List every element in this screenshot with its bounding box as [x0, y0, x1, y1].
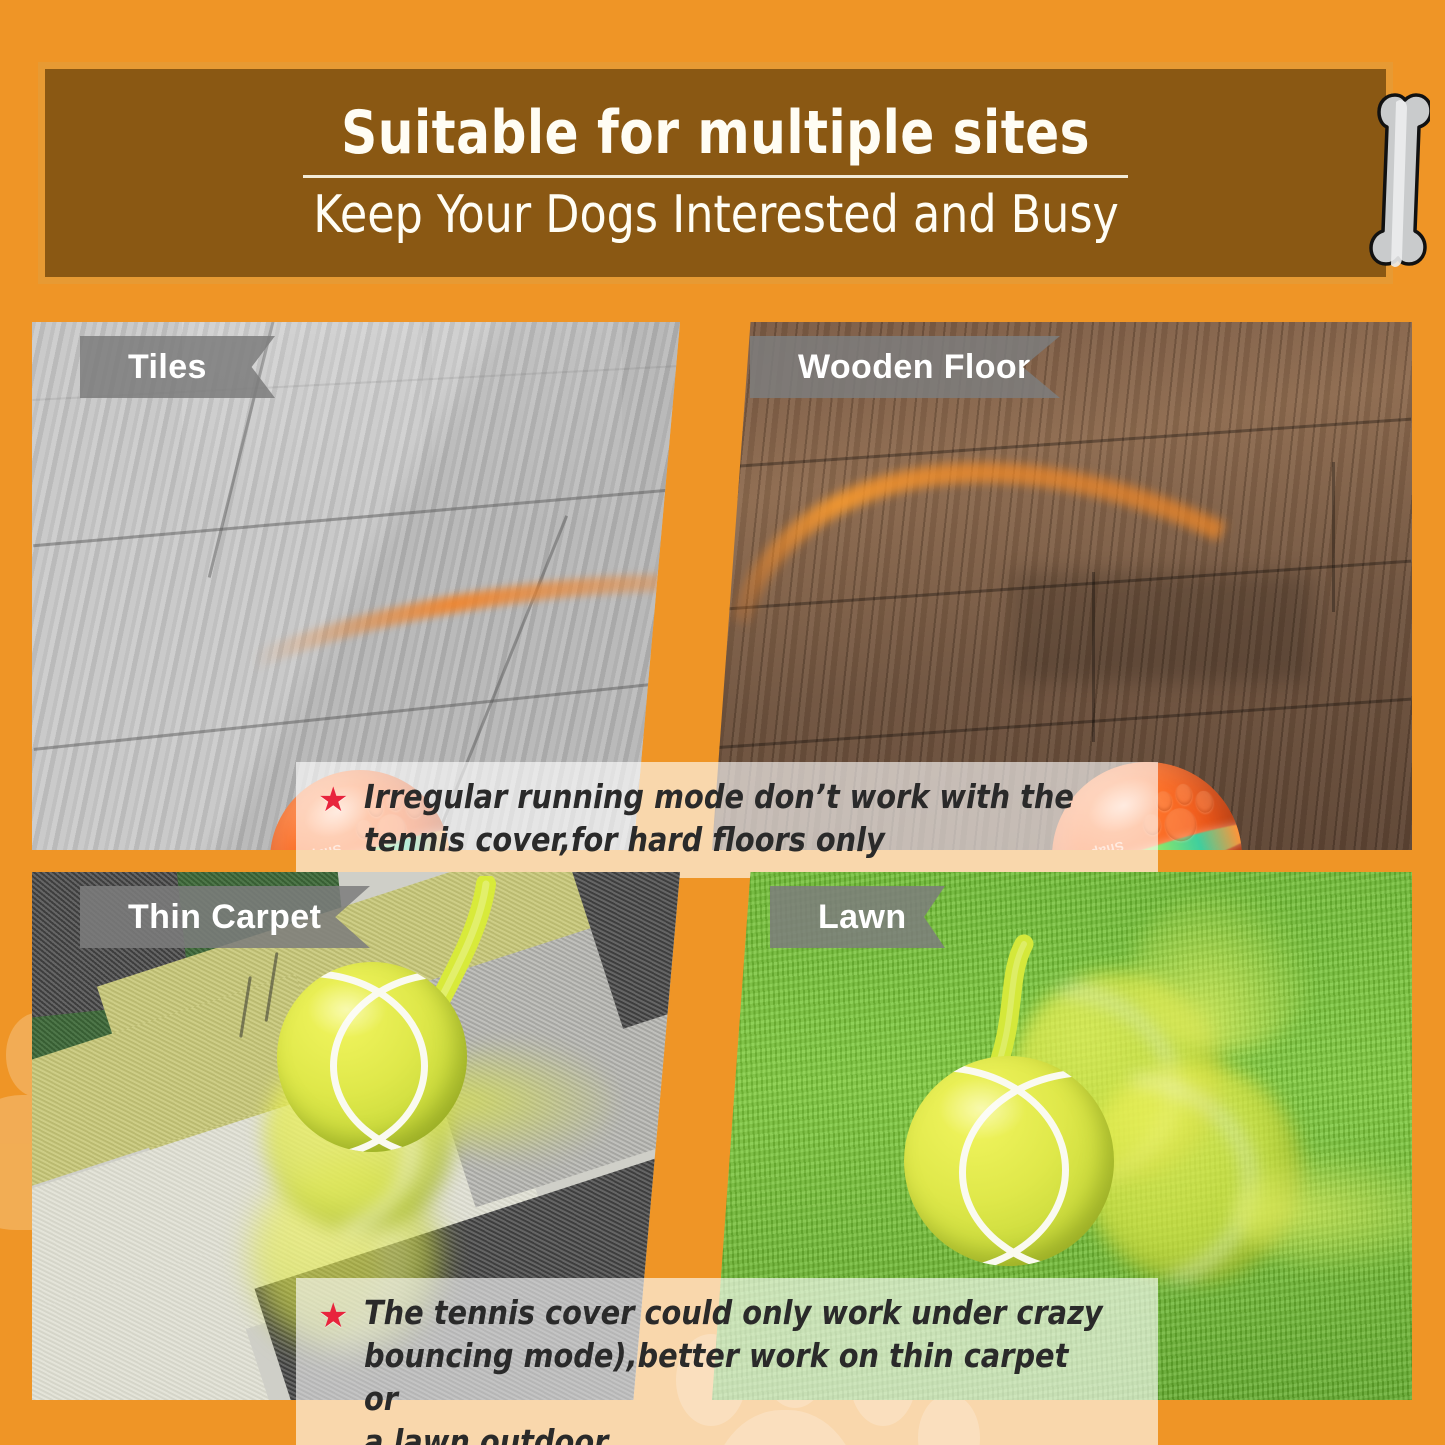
label-thin-carpet-text: Thin Carpet	[128, 898, 321, 937]
label-lawn: Lawn	[770, 886, 945, 948]
star-icon: ★	[318, 1299, 348, 1333]
label-thin-carpet: Thin Carpet	[80, 886, 370, 948]
caption-hard-floor-line2: tennis cover,for hard floors only	[364, 819, 1074, 862]
star-icon: ★	[318, 783, 348, 817]
caption-hard-floor-line1: Irregular running mode don’t work with t…	[364, 776, 1074, 819]
label-wooden-floor: Wooden Floor	[750, 336, 1060, 398]
caption-hard-floor: ★ Irregular running mode don’t work with…	[296, 762, 1158, 878]
product-infographic: Suitable for multiple sites Keep Your Do…	[0, 0, 1445, 1445]
label-tiles: Tiles	[80, 336, 275, 398]
bone-icon	[1360, 88, 1430, 278]
header-banner: Suitable for multiple sites Keep Your Do…	[38, 62, 1393, 284]
caption-tennis-cover-line1: The tennis cover could only work under c…	[364, 1292, 1108, 1335]
label-wooden-floor-text: Wooden Floor	[798, 348, 1031, 387]
tennis-tail-blur	[1132, 892, 1312, 1052]
caption-tennis-cover-line2: bouncing mode),better work on thin carpe…	[364, 1335, 1108, 1421]
caption-tennis-cover: ★ The tennis cover could only work under…	[296, 1278, 1158, 1445]
page-title: Suitable for multiple sites	[341, 103, 1090, 164]
label-lawn-text: Lawn	[818, 898, 907, 937]
title-divider	[303, 175, 1128, 178]
caption-tennis-cover-line3: a lawn outdoor	[364, 1421, 1108, 1445]
tennis-ball	[277, 962, 467, 1152]
label-tiles-text: Tiles	[128, 348, 207, 387]
page-subtitle: Keep Your Dogs Interested and Busy	[313, 188, 1119, 243]
tennis-ball	[904, 1056, 1114, 1266]
